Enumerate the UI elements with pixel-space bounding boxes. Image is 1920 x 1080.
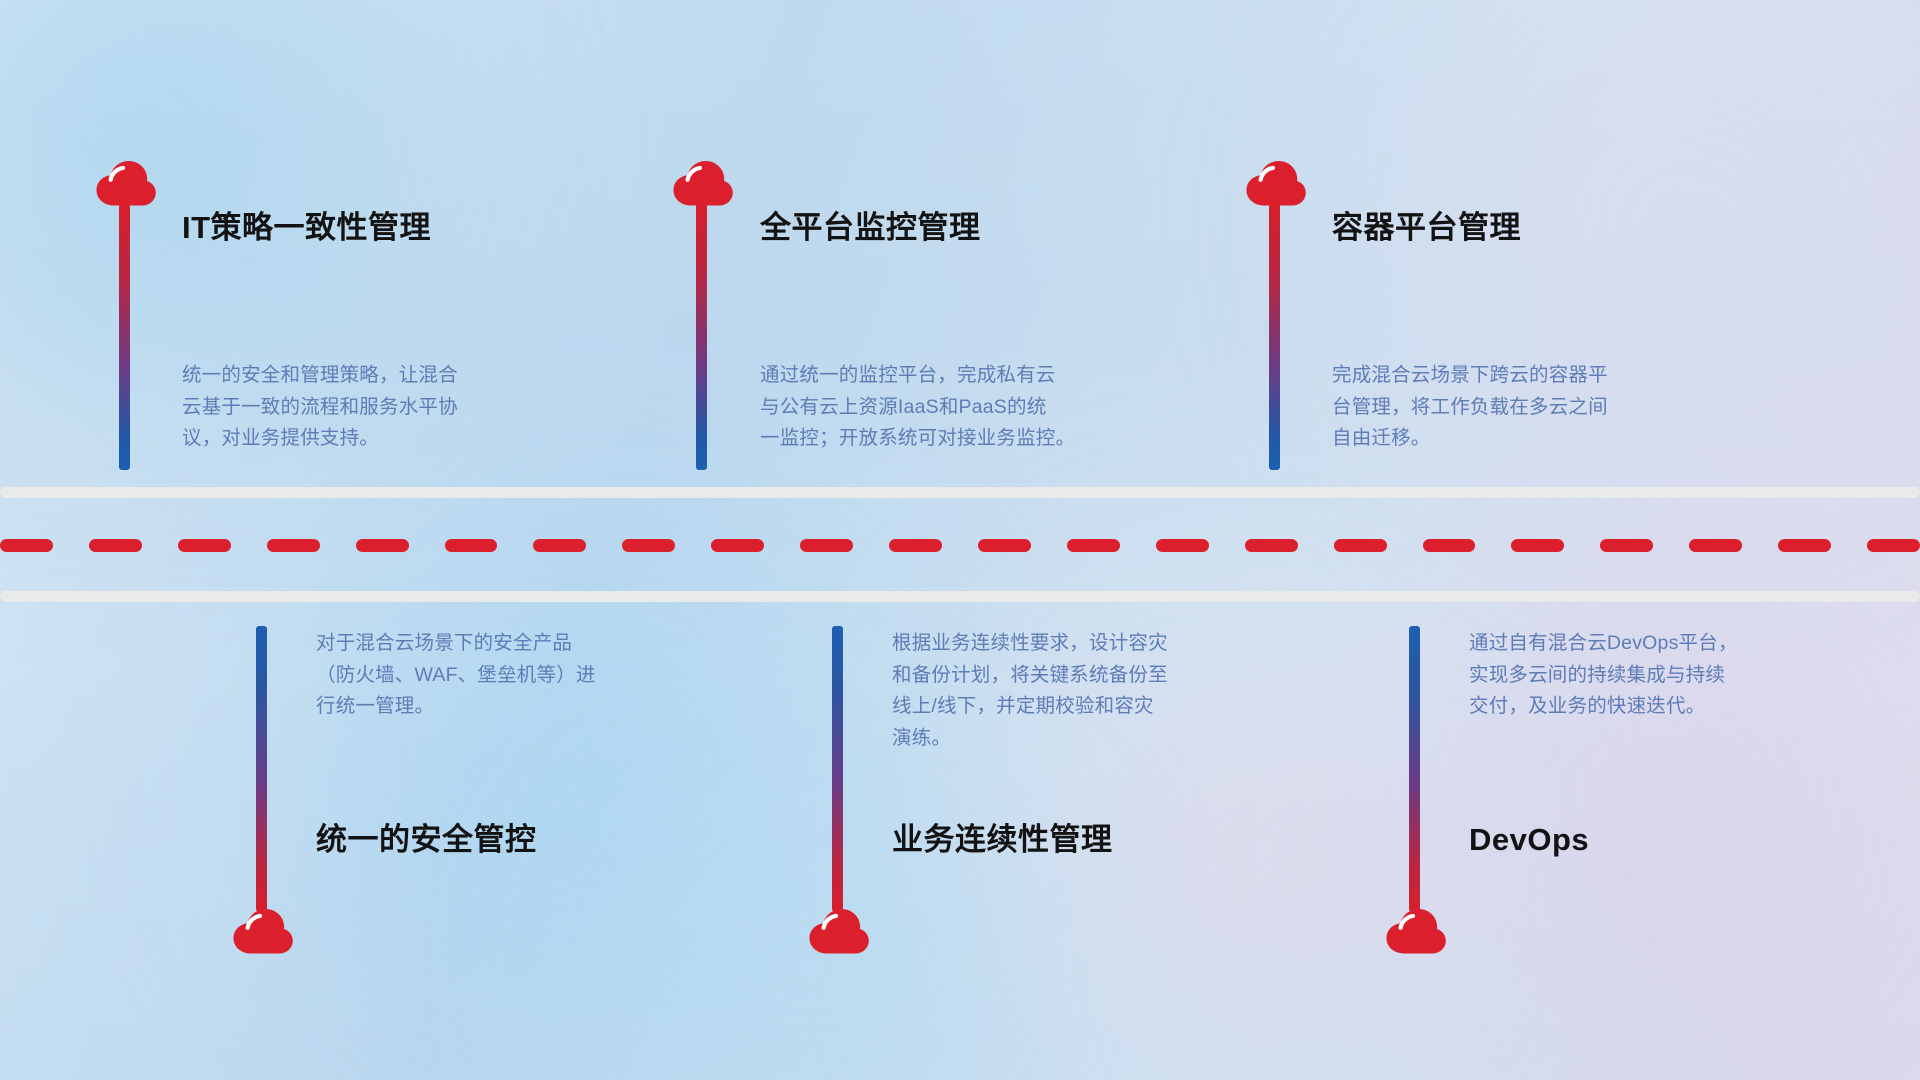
divider-dash	[1689, 539, 1742, 552]
accent-bar	[256, 626, 267, 912]
divider-dash	[356, 539, 409, 552]
divider-rail-top	[0, 487, 1920, 498]
body-block: 根据业务连续性要求，设计容灾 和备份计划，将关键系统备份至 线上/线下，并定期校…	[892, 628, 1332, 754]
bottom-row: 对于混合云场景下的安全产品 （防火墙、WAF、堡垒机等）进 行统一管理。 统一的…	[0, 602, 1920, 1080]
column-body: 通过统一的监控平台，完成私有云 与公有云上资源IaaS和PaaS的统 一监控；开…	[760, 360, 1210, 455]
cloud-icon	[232, 908, 294, 954]
body-block: 通过自有混合云DevOps平台， 实现多云间的持续集成与持续 交付，及业务的快速…	[1469, 628, 1899, 723]
divider-dash	[1334, 539, 1387, 552]
column-heading: IT策略一致性管理	[182, 212, 431, 243]
column-heading: 业务连续性管理	[892, 824, 1113, 855]
stem-marker	[672, 160, 732, 470]
accent-bar	[1409, 626, 1420, 912]
divider-dash	[1067, 539, 1120, 552]
divider-dash	[1511, 539, 1564, 552]
heading-block: DevOps	[1469, 824, 1589, 855]
top-row: IT策略一致性管理 统一的安全和管理策略，让混合 云基于一致的流程和服务水平协 …	[0, 0, 1920, 487]
stem-marker	[808, 626, 868, 956]
divider-dash	[1600, 539, 1653, 552]
accent-bar	[1269, 204, 1280, 470]
heading-block: 全平台监控管理	[760, 212, 981, 243]
stem-marker	[232, 626, 292, 956]
divider-dash	[978, 539, 1031, 552]
divider-dash	[622, 539, 675, 552]
divider-dash	[800, 539, 853, 552]
column-body: 完成混合云场景下跨云的容器平 台管理，将工作负载在多云之间 自由迁移。	[1332, 360, 1782, 455]
cloud-icon	[808, 908, 870, 954]
column-heading: 统一的安全管控	[316, 824, 537, 855]
divider-dash	[0, 539, 53, 552]
column-body: 统一的安全和管理策略，让混合 云基于一致的流程和服务水平协 议，对业务提供支持。	[182, 360, 612, 455]
divider-dash	[1423, 539, 1476, 552]
body-block: 通过统一的监控平台，完成私有云 与公有云上资源IaaS和PaaS的统 一监控；开…	[760, 360, 1210, 455]
divider-dash	[267, 539, 320, 552]
heading-block: 统一的安全管控	[316, 824, 537, 855]
body-block: 统一的安全和管理策略，让混合 云基于一致的流程和服务水平协 议，对业务提供支持。	[182, 360, 612, 455]
road-divider	[0, 487, 1920, 602]
stem-marker	[95, 160, 155, 470]
body-block: 对于混合云场景下的安全产品 （防火墙、WAF、堡垒机等）进 行统一管理。	[316, 628, 756, 723]
infographic-canvas: IT策略一致性管理 统一的安全和管理策略，让混合 云基于一致的流程和服务水平协 …	[0, 0, 1920, 1080]
divider-dash	[1867, 539, 1920, 552]
divider-dash	[1245, 539, 1298, 552]
cloud-icon	[1385, 908, 1447, 954]
divider-dash	[445, 539, 498, 552]
heading-block: IT策略一致性管理	[182, 212, 431, 243]
column-body: 对于混合云场景下的安全产品 （防火墙、WAF、堡垒机等）进 行统一管理。	[316, 628, 756, 723]
divider-dash	[1156, 539, 1209, 552]
heading-block: 业务连续性管理	[892, 824, 1113, 855]
divider-rail-bottom	[0, 591, 1920, 602]
divider-dash	[178, 539, 231, 552]
cloud-icon	[1245, 160, 1307, 206]
column-heading: 容器平台管理	[1332, 212, 1521, 243]
divider-dash	[1778, 539, 1831, 552]
divider-dash	[89, 539, 142, 552]
accent-bar	[119, 204, 130, 470]
column-heading: DevOps	[1469, 824, 1589, 855]
column-body: 根据业务连续性要求，设计容灾 和备份计划，将关键系统备份至 线上/线下，并定期校…	[892, 628, 1332, 754]
column-body: 通过自有混合云DevOps平台， 实现多云间的持续集成与持续 交付，及业务的快速…	[1469, 628, 1899, 723]
heading-block: 容器平台管理	[1332, 212, 1521, 243]
divider-dashes	[0, 539, 1920, 552]
stem-marker	[1245, 160, 1305, 470]
body-block: 完成混合云场景下跨云的容器平 台管理，将工作负载在多云之间 自由迁移。	[1332, 360, 1782, 455]
column-heading: 全平台监控管理	[760, 212, 981, 243]
accent-bar	[832, 626, 843, 912]
cloud-icon	[95, 160, 157, 206]
divider-dash	[711, 539, 764, 552]
accent-bar	[696, 204, 707, 470]
divider-dash	[533, 539, 586, 552]
cloud-icon	[672, 160, 734, 206]
divider-dash	[889, 539, 942, 552]
stem-marker	[1385, 626, 1445, 956]
